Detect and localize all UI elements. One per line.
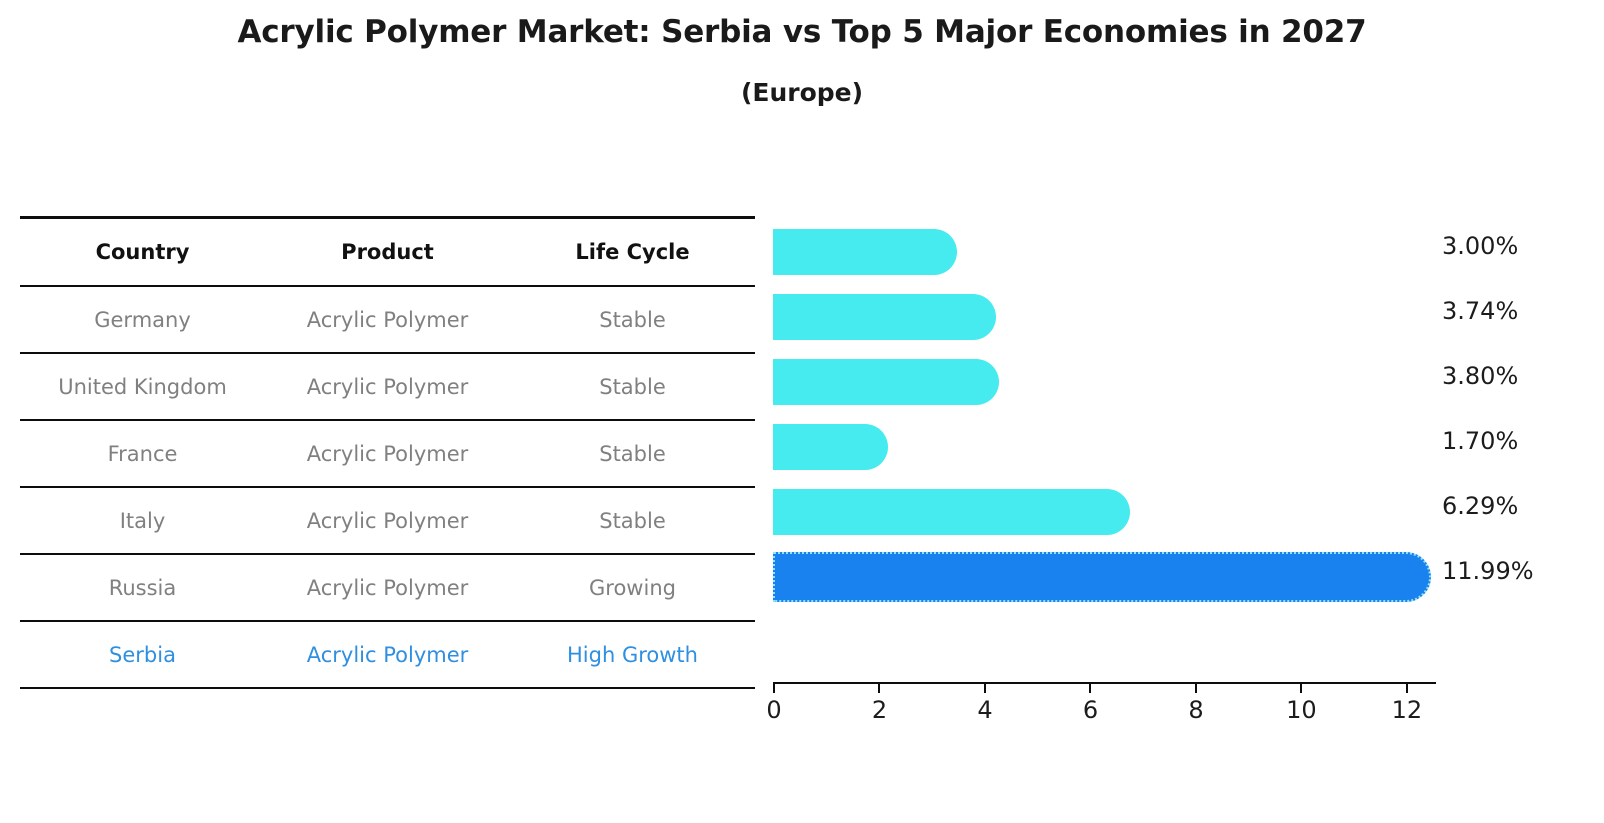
bar-row: 3.74%: [773, 281, 1436, 346]
table-header-row: Country Product Life Cycle: [20, 217, 755, 286]
bar-value-label: 1.70%: [1442, 427, 1518, 455]
x-axis-tick-label: 10: [1271, 696, 1331, 724]
country-data-table: Country Product Life Cycle GermanyAcryli…: [20, 216, 755, 689]
x-axis-tick-label: 2: [849, 696, 909, 724]
bar-value-label: 11.99%: [1442, 557, 1534, 585]
x-axis-tick: [984, 684, 986, 693]
product-cell: Acrylic Polymer: [265, 621, 510, 688]
table-row[interactable]: United KingdomAcrylic PolymerStable: [20, 353, 755, 420]
column-header-product: Product: [265, 217, 510, 286]
country-cell: France: [20, 420, 265, 487]
table-row[interactable]: GermanyAcrylic PolymerStable: [20, 286, 755, 353]
life-cycle-cell: Growing: [510, 554, 755, 621]
product-cell: Acrylic Polymer: [265, 487, 510, 554]
x-axis-tick: [1089, 684, 1091, 693]
x-axis-tick: [1195, 684, 1197, 693]
x-axis-tick-label: 6: [1060, 696, 1120, 724]
page-title: Acrylic Polymer Market: Serbia vs Top 5 …: [0, 14, 1604, 50]
bar-row: 3.00%: [773, 216, 1436, 281]
x-axis-tick: [773, 684, 775, 693]
product-cell: Acrylic Polymer: [265, 286, 510, 353]
x-axis-tick-label: 8: [1166, 696, 1226, 724]
bar-highlight[interactable]: [773, 552, 1431, 602]
page-subtitle: (Europe): [0, 78, 1604, 107]
country-cell: Italy: [20, 487, 265, 554]
bar-row: 6.29%: [773, 476, 1436, 541]
country-cell: United Kingdom: [20, 353, 265, 420]
life-cycle-cell: Stable: [510, 487, 755, 554]
column-header-life-cycle: Life Cycle: [510, 217, 755, 286]
bar-row: 11.99%: [773, 541, 1436, 606]
life-cycle-cell: Stable: [510, 420, 755, 487]
bar-value-label: 3.80%: [1442, 362, 1518, 390]
country-cell: Serbia: [20, 621, 265, 688]
bar-row: 3.80%: [773, 346, 1436, 411]
bar[interactable]: [773, 359, 999, 405]
bar-value-label: 3.00%: [1442, 232, 1518, 260]
bar-chart-plot-area: 3.00%3.74%3.80%1.70%6.29%11.99%: [773, 216, 1436, 682]
table-row[interactable]: ItalyAcrylic PolymerStable: [20, 487, 755, 554]
x-axis-tick: [1406, 684, 1408, 693]
x-axis: 024681012: [773, 682, 1436, 683]
table-header: Country Product Life Cycle: [20, 217, 755, 286]
bar[interactable]: [773, 489, 1130, 535]
x-axis-tick-label: 0: [744, 696, 804, 724]
bar[interactable]: [773, 294, 996, 340]
x-axis-tick-label: 4: [955, 696, 1015, 724]
product-cell: Acrylic Polymer: [265, 353, 510, 420]
x-axis-tick: [878, 684, 880, 693]
table-body: GermanyAcrylic PolymerStableUnited Kingd…: [20, 286, 755, 688]
x-axis-tick-label: 12: [1377, 696, 1437, 724]
table-row[interactable]: FranceAcrylic PolymerStable: [20, 420, 755, 487]
column-header-country: Country: [20, 217, 265, 286]
bar[interactable]: [773, 424, 888, 470]
country-cell: Germany: [20, 286, 265, 353]
x-axis-tick: [1300, 684, 1302, 693]
table-row[interactable]: SerbiaAcrylic PolymerHigh Growth: [20, 621, 755, 688]
bar-value-label: 3.74%: [1442, 297, 1518, 325]
life-cycle-cell: Stable: [510, 353, 755, 420]
life-cycle-cell: High Growth: [510, 621, 755, 688]
table-row[interactable]: RussiaAcrylic PolymerGrowing: [20, 554, 755, 621]
product-cell: Acrylic Polymer: [265, 554, 510, 621]
product-cell: Acrylic Polymer: [265, 420, 510, 487]
bar-value-label: 6.29%: [1442, 492, 1518, 520]
bar-row: 1.70%: [773, 411, 1436, 476]
life-cycle-cell: Stable: [510, 286, 755, 353]
bar[interactable]: [773, 229, 957, 275]
data-table-panel: Country Product Life Cycle GermanyAcryli…: [20, 216, 755, 689]
x-axis-line: [773, 682, 1436, 684]
country-cell: Russia: [20, 554, 265, 621]
